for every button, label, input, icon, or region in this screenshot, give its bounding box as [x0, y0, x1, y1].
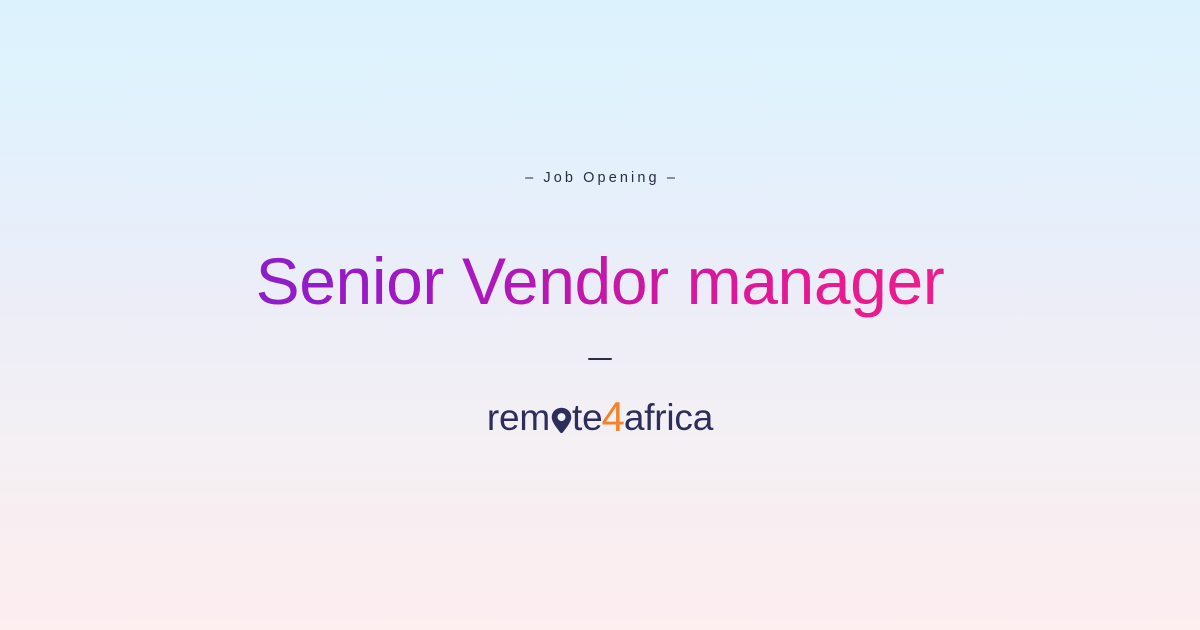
page-title: Senior Vendor manager [250, 243, 951, 326]
brand-text-suffix: africa [624, 399, 713, 436]
eyebrow-label: – Job Opening – [522, 171, 678, 186]
card-content: – Job Opening – Senior Vendor manager re… [50, 171, 1150, 437]
job-opening-share-card: – Job Opening – Senior Vendor manager re… [0, 0, 1200, 630]
location-pin-icon [551, 407, 572, 434]
brand-accent-digit: 4 [601, 396, 623, 438]
brand-text-before-pin: rem [487, 399, 550, 436]
brand-logo: remte4africa [487, 395, 713, 437]
divider-rule [588, 358, 612, 360]
brand-text-after-pin: te [572, 399, 602, 436]
